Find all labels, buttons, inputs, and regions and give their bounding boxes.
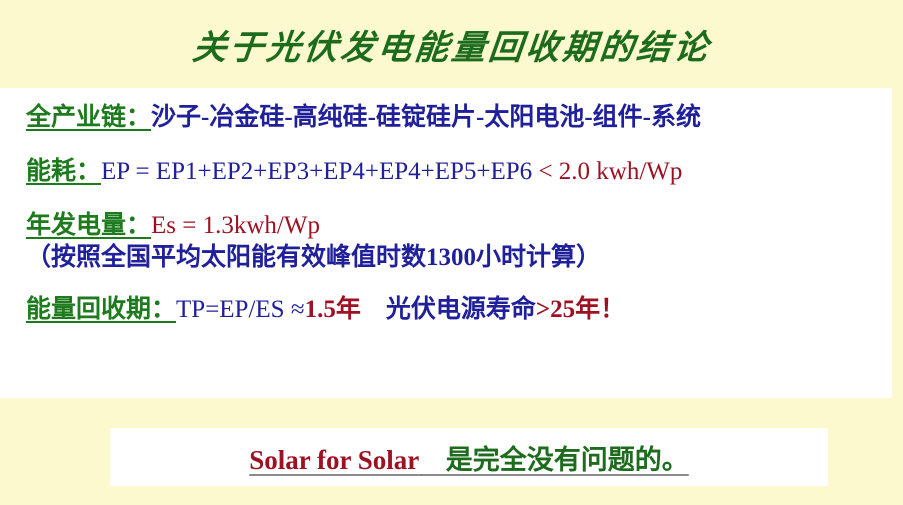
footer-conclusion: Solar for Solar 是完全没有问题的。 [249,438,689,477]
annual-formula: Es = 1.3kwh/Wp [151,212,320,239]
energy-limit: < 2.0 kwh/Wp [538,158,682,185]
lifetime-value: >25年！ [536,296,625,323]
footer-english: Solar for Solar [249,445,419,475]
slide-root: { "slide": { "title": "关于光伏发电能量回收期的结论", … [0,0,903,505]
title-band: 关于光伏发电能量回收期的结论 [0,0,903,88]
page-title: 关于光伏发电能量回收期的结论 [190,20,713,69]
line-annual-generation: 年发电量：Es = 1.3kwh/Wp （按照全国平均太阳能有效峰值时数1300… [26,210,892,274]
chain-value: 沙子-冶金硅-高纯硅-硅锭硅片-太阳电池-组件-系统 [151,104,701,131]
payback-value: 1.5年 [305,296,361,323]
lifetime-label: 光伏电源寿命 [361,296,536,323]
footer-chinese: 是完全没有问题的。 [419,445,689,475]
payback-label: 能量回收期： [26,296,176,323]
content-block: 全产业链：沙子-冶金硅-高纯硅-硅锭硅片-太阳电池-组件-系统 能耗：EP = … [0,88,892,398]
footer-band: Solar for Solar 是完全没有问题的。 [110,428,828,486]
energy-label: 能耗： [26,158,101,185]
line-industry-chain: 全产业链：沙子-冶金硅-高纯硅-硅锭硅片-太阳电池-组件-系统 [26,102,892,134]
energy-formula: EP = EP1+EP2+EP3+EP4+EP4+EP5+EP6 [101,158,538,185]
annual-label: 年发电量： [26,212,151,239]
line-energy-consumption: 能耗：EP = EP1+EP2+EP3+EP4+EP4+EP5+EP6 < 2.… [26,156,892,188]
line-energy-payback: 能量回收期：TP=EP/ES ≈1.5年 光伏电源寿命>25年！ [26,294,892,326]
payback-formula: TP=EP/ES ≈ [176,296,305,323]
annual-note: （按照全国平均太阳能有效峰值时数1300小时计算） [26,244,601,271]
chain-label: 全产业链： [26,104,151,131]
